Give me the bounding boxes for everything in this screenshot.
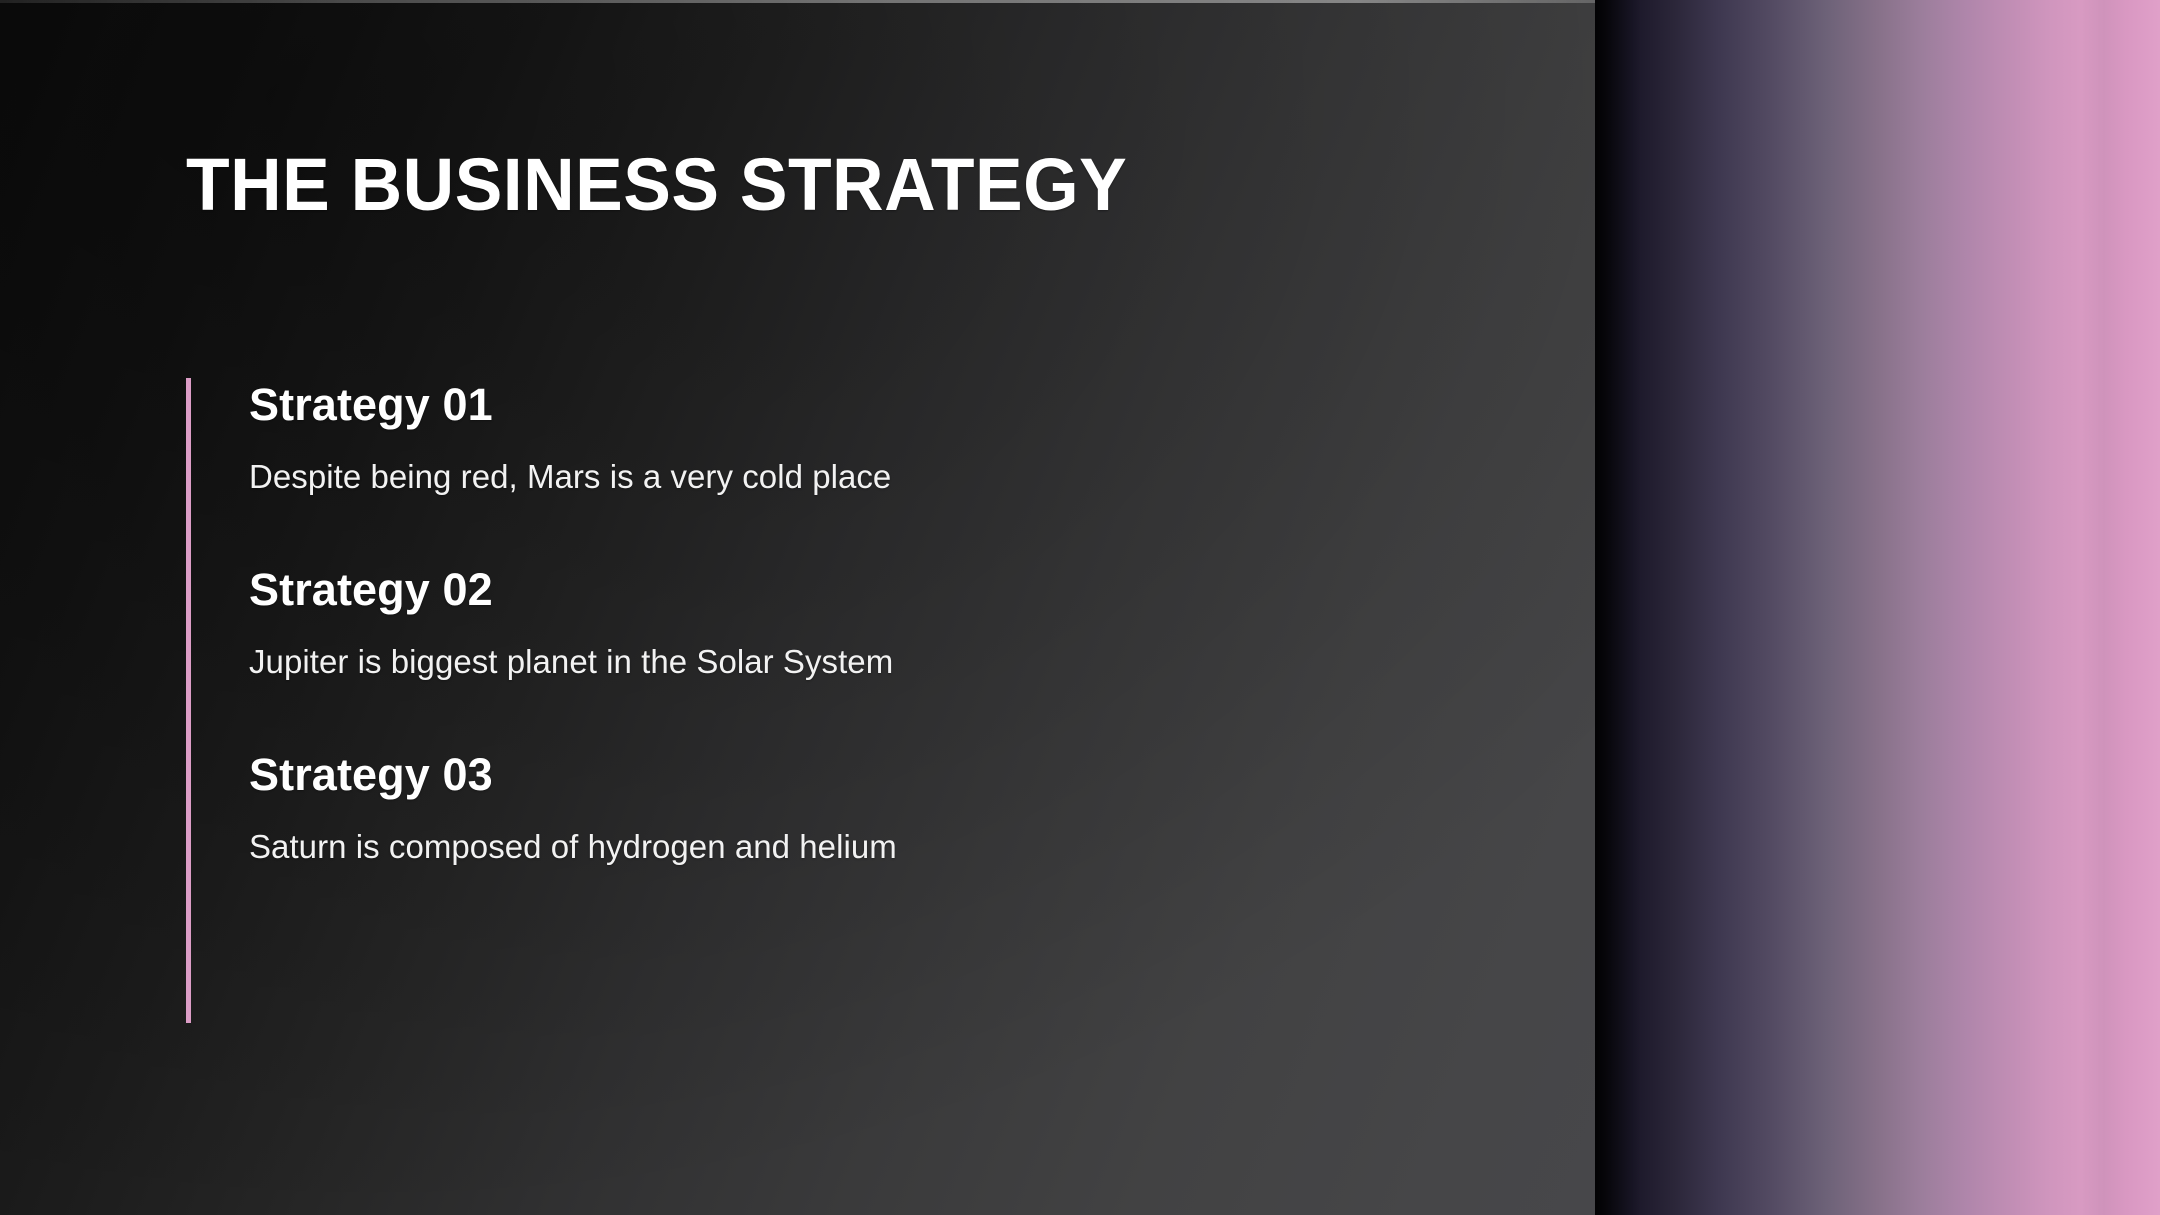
list-item: Strategy 01 Despite being red, Mars is a… (249, 378, 1449, 499)
decorative-gradient-panel (1595, 0, 2160, 1215)
strategy-body: Despite being red, Mars is a very cold p… (249, 456, 1449, 499)
strategy-heading: Strategy 01 (249, 378, 1449, 431)
page-title: THE BUSINESS STRATEGY (186, 148, 1127, 222)
strategy-body: Saturn is composed of hydrogen and heliu… (249, 826, 1449, 869)
strategy-heading: Strategy 02 (249, 563, 1449, 616)
presentation-slide: THE BUSINESS STRATEGY Strategy 01 Despit… (0, 0, 2160, 1215)
strategy-list: Strategy 01 Despite being red, Mars is a… (249, 378, 1449, 869)
list-item: Strategy 03 Saturn is composed of hydrog… (249, 748, 1449, 869)
strategy-heading: Strategy 03 (249, 748, 1449, 801)
strategy-body: Jupiter is biggest planet in the Solar S… (249, 641, 1449, 684)
accent-vertical-rule (186, 378, 191, 1023)
list-item: Strategy 02 Jupiter is biggest planet in… (249, 563, 1449, 684)
